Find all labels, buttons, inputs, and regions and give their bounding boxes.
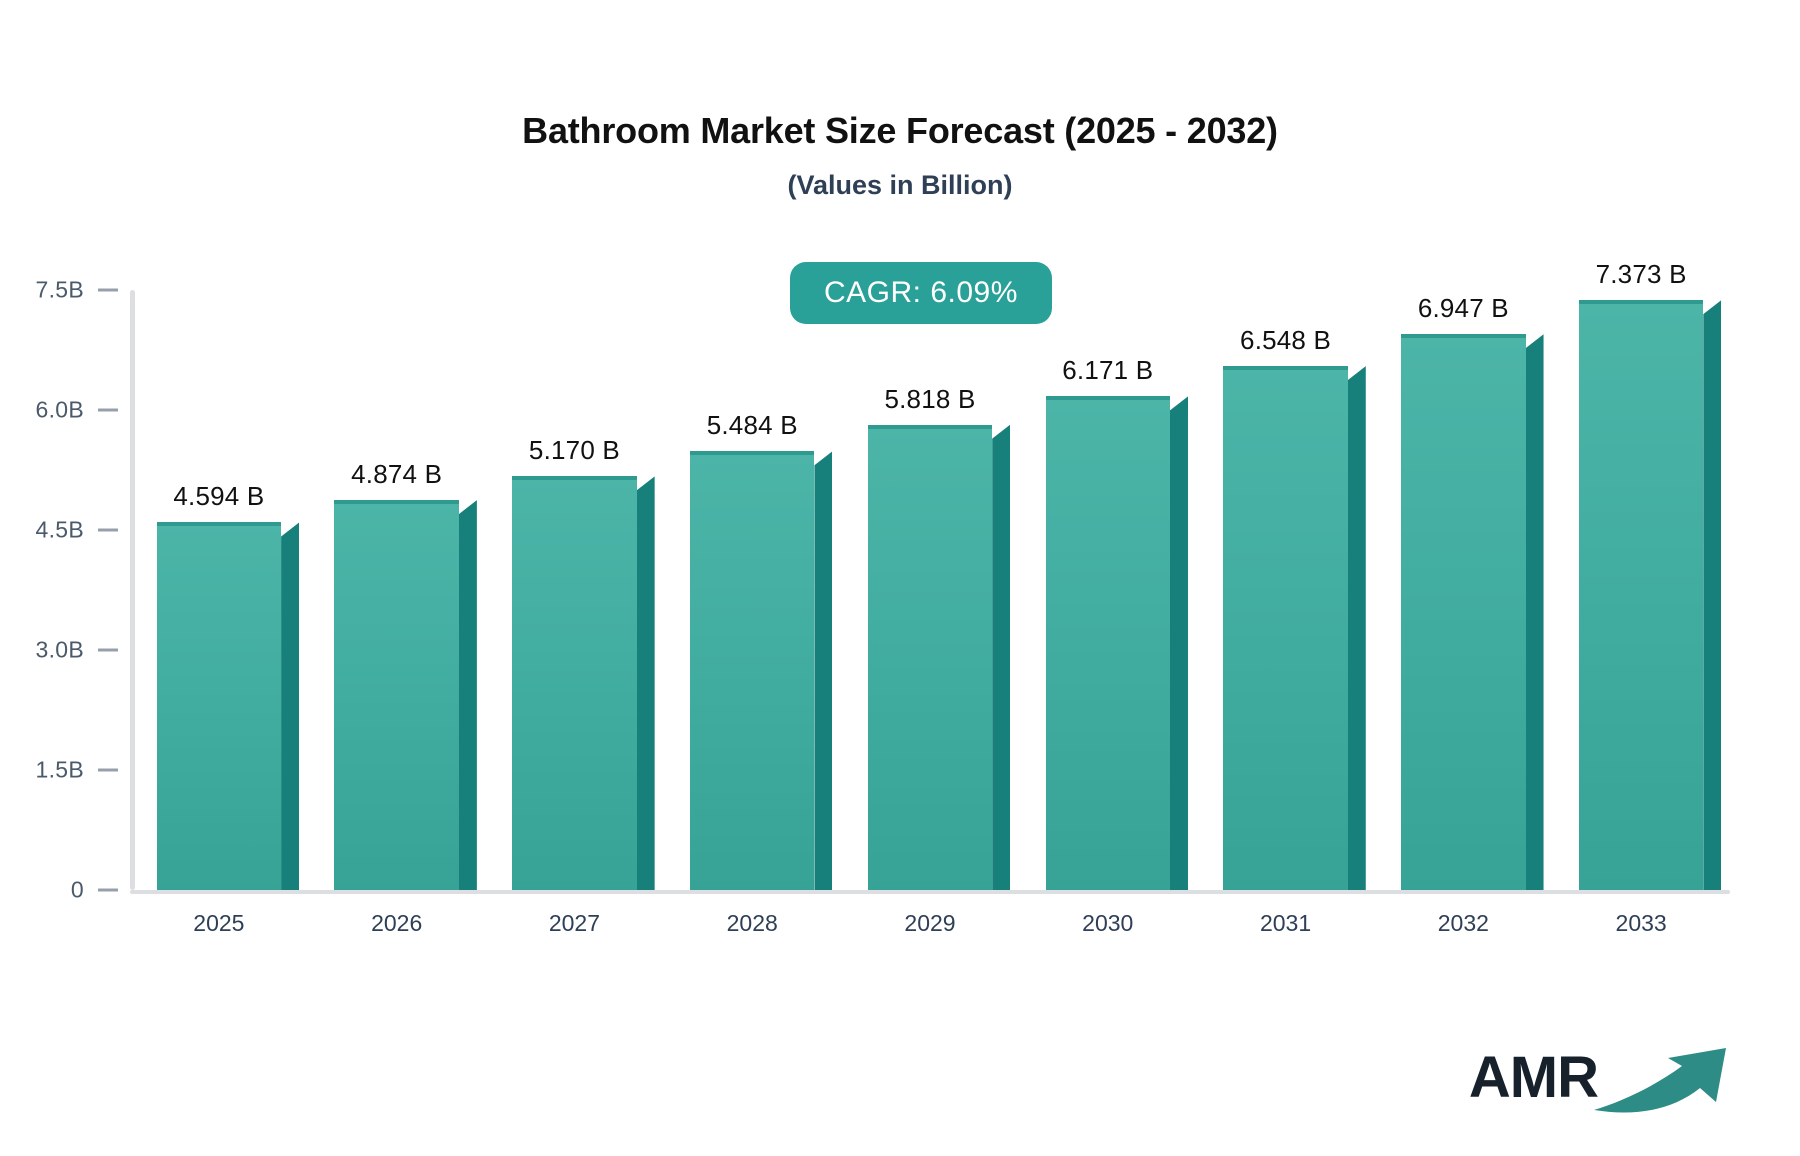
bar-side-face xyxy=(1703,300,1721,890)
x-axis-label: 2027 xyxy=(549,910,600,937)
bar-top-edge xyxy=(868,425,992,429)
bar-front-face xyxy=(690,451,814,890)
growth-arrow-icon xyxy=(1590,1044,1740,1116)
bar-side-face xyxy=(1170,396,1188,890)
bar-body xyxy=(157,522,281,890)
y-axis-tick: 1.5B xyxy=(35,757,130,784)
y-axis-tick-label: 1.5B xyxy=(35,757,84,784)
x-axis-label: 2025 xyxy=(193,910,244,937)
bar-value-label: 5.170 B xyxy=(529,435,620,466)
bar-value-label: 5.484 B xyxy=(707,410,798,441)
bar-value-label: 4.874 B xyxy=(351,459,442,490)
chart-title: Bathroom Market Size Forecast (2025 - 20… xyxy=(0,110,1800,152)
bar-front-face xyxy=(512,476,636,890)
bar-front-face xyxy=(1046,396,1170,890)
bar: 6.171 B xyxy=(1046,396,1170,890)
bar-side-face xyxy=(281,522,299,890)
y-axis-tick-label: 7.5B xyxy=(35,277,84,304)
y-axis-tick-label: 4.5B xyxy=(35,517,84,544)
bar-body xyxy=(690,451,814,890)
y-axis-tick-mark xyxy=(98,289,118,292)
x-axis-label: 2028 xyxy=(727,910,778,937)
bar-value-label: 5.818 B xyxy=(884,384,975,415)
bars-layer: 4.594 B4.874 B5.170 B5.484 B5.818 B6.171… xyxy=(130,290,1730,890)
bar-top-edge xyxy=(512,476,636,480)
bar-top-edge xyxy=(1401,334,1525,338)
bar-body xyxy=(1401,334,1525,890)
bar-body xyxy=(334,500,458,890)
bar-top-edge xyxy=(1579,300,1703,304)
bar-front-face xyxy=(1223,366,1347,890)
bar-value-label: 6.171 B xyxy=(1062,355,1153,386)
bar: 5.484 B xyxy=(690,451,814,890)
bar-front-face xyxy=(157,522,281,890)
y-axis-tick-label: 3.0B xyxy=(35,637,84,664)
bar-side-face xyxy=(1526,334,1544,890)
x-axis-label: 2026 xyxy=(371,910,422,937)
bar: 4.594 B xyxy=(157,522,281,890)
y-axis-tick: 3.0B xyxy=(35,637,130,664)
y-axis-tick-mark xyxy=(98,769,118,772)
y-axis-tick-label: 0 xyxy=(71,877,84,904)
bar: 7.373 B xyxy=(1579,300,1703,890)
bar: 6.947 B xyxy=(1401,334,1525,890)
bar-front-face xyxy=(868,425,992,890)
bar-body xyxy=(512,476,636,890)
bar-top-edge xyxy=(690,451,814,455)
bar: 5.170 B xyxy=(512,476,636,890)
bar-top-edge xyxy=(1223,366,1347,370)
y-axis-tick-mark xyxy=(98,409,118,412)
x-axis-label: 2033 xyxy=(1616,910,1667,937)
plot-area: 01.5B3.0B4.5B6.0B7.5B 4.594 B4.874 B5.17… xyxy=(130,290,1730,890)
amr-logo: AMR xyxy=(1469,1040,1740,1116)
bar-top-edge xyxy=(334,500,458,504)
bar-body xyxy=(868,425,992,890)
bar-side-face xyxy=(637,476,655,890)
y-axis-tick-mark xyxy=(98,649,118,652)
x-axis-label: 2031 xyxy=(1260,910,1311,937)
logo-text: AMR xyxy=(1469,1049,1598,1107)
bar-body xyxy=(1046,396,1170,890)
y-axis-tick-mark xyxy=(98,889,118,892)
x-axis-line xyxy=(130,890,1730,894)
bar-value-label: 7.373 B xyxy=(1596,259,1687,290)
bar-top-edge xyxy=(1046,396,1170,400)
bar-value-label: 6.548 B xyxy=(1240,325,1331,356)
bar-body xyxy=(1223,366,1347,890)
chart-subtitle: (Values in Billion) xyxy=(0,170,1800,201)
bar-side-face xyxy=(1348,366,1366,890)
bar-front-face xyxy=(1579,300,1703,890)
bar-top-edge xyxy=(157,522,281,526)
x-axis-label: 2030 xyxy=(1082,910,1133,937)
bar-side-face xyxy=(459,500,477,890)
bar-body xyxy=(1579,300,1703,890)
x-axis-label: 2032 xyxy=(1438,910,1489,937)
bar-front-face xyxy=(1401,334,1525,890)
chart-canvas: Bathroom Market Size Forecast (2025 - 20… xyxy=(0,0,1800,1156)
y-axis-tick: 6.0B xyxy=(35,397,130,424)
y-axis-tick: 4.5B xyxy=(35,517,130,544)
y-axis-tick: 7.5B xyxy=(35,277,130,304)
x-axis-label: 2029 xyxy=(904,910,955,937)
bar: 6.548 B xyxy=(1223,366,1347,890)
bar-side-face xyxy=(992,425,1010,890)
y-axis-tick-mark xyxy=(98,529,118,532)
bar-front-face xyxy=(334,500,458,890)
bar-value-label: 4.594 B xyxy=(173,481,264,512)
bar: 4.874 B xyxy=(334,500,458,890)
bar: 5.818 B xyxy=(868,425,992,890)
bar-value-label: 6.947 B xyxy=(1418,293,1509,324)
bar-side-face xyxy=(814,451,832,890)
y-axis-tick-label: 6.0B xyxy=(35,397,84,424)
y-axis-tick: 0 xyxy=(71,877,130,904)
